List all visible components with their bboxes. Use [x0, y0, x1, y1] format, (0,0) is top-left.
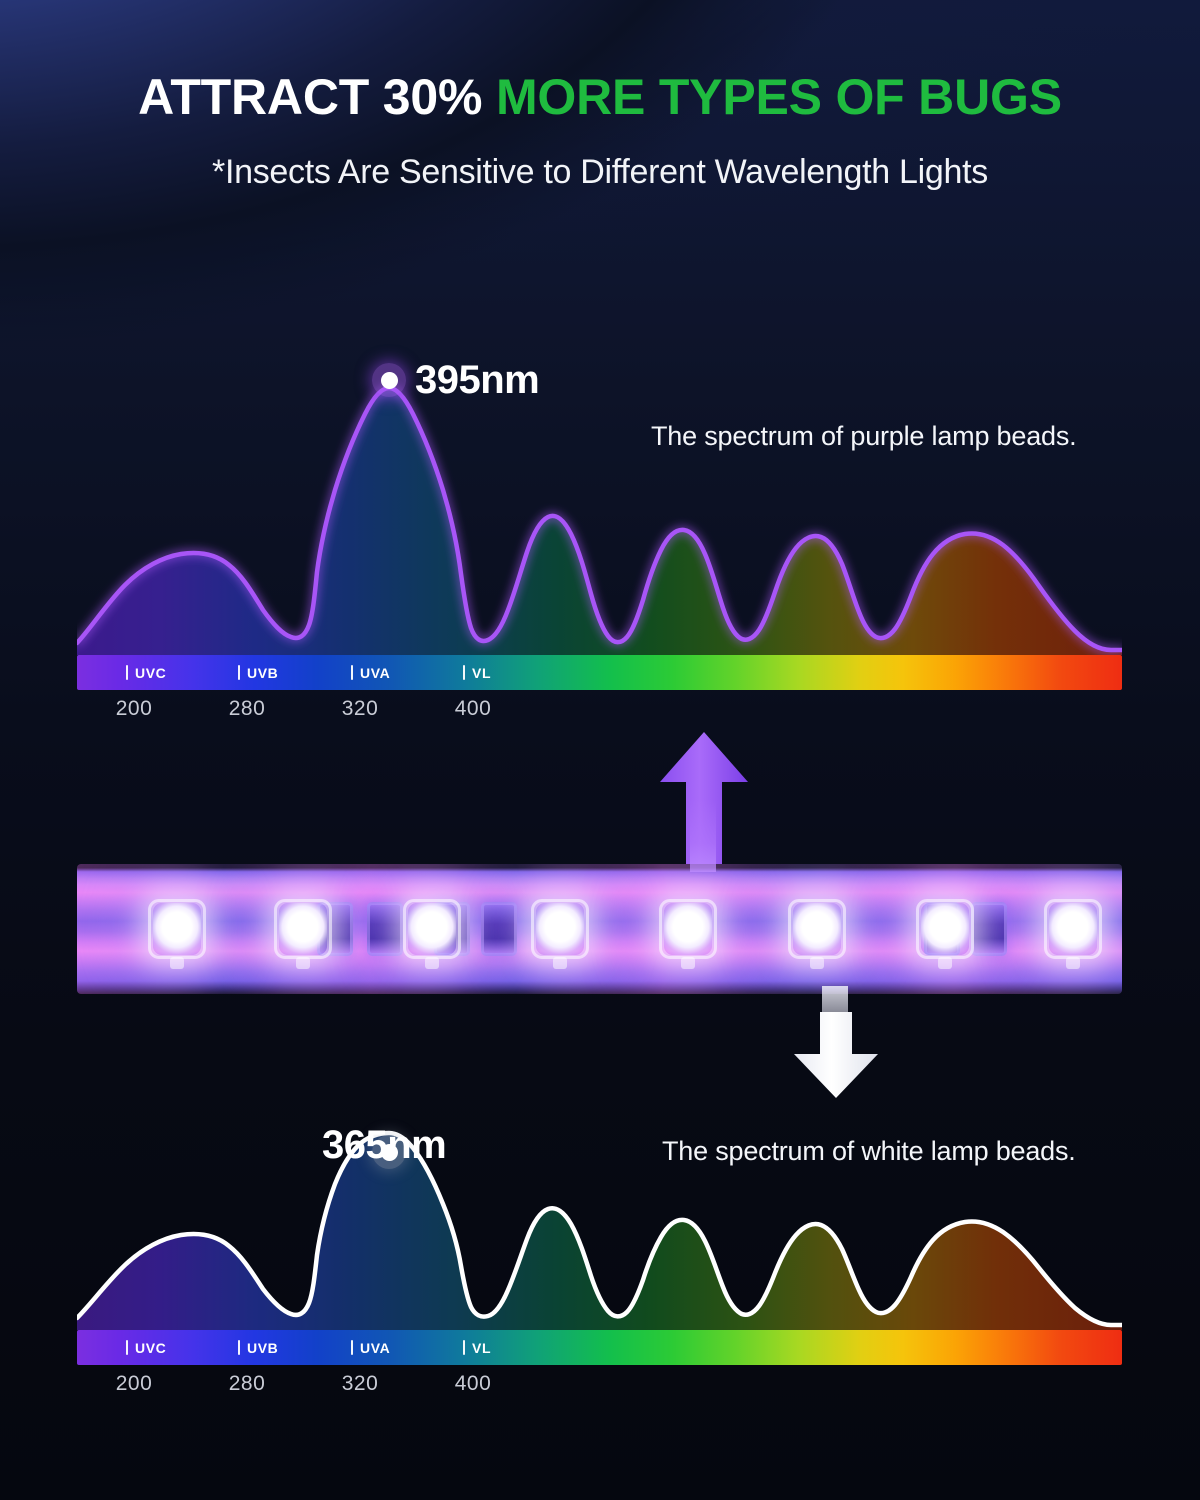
led-light-strip — [77, 864, 1122, 994]
promo-graphic: ATTRACT 30% MORE TYPES OF BUGS *Insects … — [0, 0, 1200, 1500]
chart-purple-spectrum: 395nm The spectrum of purple lamp beads.… — [77, 360, 1122, 730]
spectrum-curve-purple — [77, 360, 1122, 655]
led-chip — [481, 902, 517, 956]
axis-tick-320: 320 — [342, 697, 379, 721]
axis-tick-320: 320 — [342, 1372, 379, 1396]
axis-tick-400: 400 — [455, 697, 492, 721]
plot-area-purple: 395nm The spectrum of purple lamp beads. — [77, 360, 1122, 655]
page-title: ATTRACT 30% MORE TYPES OF BUGS — [0, 72, 1200, 122]
axis-ticks-purple: 200 280 320 400 — [77, 690, 1122, 730]
band-tick-icon — [126, 1340, 128, 1355]
band-label: VL — [472, 665, 491, 681]
band-label: UVC — [135, 1340, 166, 1356]
band-tick-icon — [238, 665, 240, 680]
caption-white-spectrum: The spectrum of white lamp beads. — [662, 1138, 1076, 1165]
page-subtitle: *Insects Are Sensitive to Different Wave… — [0, 155, 1200, 189]
caption-purple-spectrum: The spectrum of purple lamp beads. — [651, 423, 1076, 450]
led-bead — [793, 903, 841, 955]
band-tick-icon — [463, 665, 465, 680]
led-bead — [408, 903, 456, 955]
axis-tick-200: 200 — [116, 697, 153, 721]
band-label: UVA — [360, 665, 390, 681]
axis-tick-200: 200 — [116, 1372, 153, 1396]
axis-tick-280: 280 — [229, 697, 266, 721]
led-bead — [921, 903, 969, 955]
band-label: UVC — [135, 665, 166, 681]
led-beam-up — [690, 800, 716, 872]
peak-marker-395 — [372, 363, 406, 397]
band-label: UVB — [247, 1340, 278, 1356]
band-uva-bottom: UVA — [351, 1330, 390, 1365]
headline-green: MORE TYPES OF BUGS — [496, 69, 1062, 125]
led-bead — [153, 903, 201, 955]
headline-white: ATTRACT 30% — [138, 69, 496, 125]
band-uvb-bottom: UVB — [238, 1330, 278, 1365]
down-arrow-icon — [790, 1012, 882, 1098]
led-bead — [536, 903, 584, 955]
band-label: UVA — [360, 1340, 390, 1356]
down-arrow — [790, 1012, 882, 1098]
band-uvc-top: UVC — [126, 655, 166, 690]
spectrum-bar-purple: UVC UVB UVA VL — [77, 655, 1122, 690]
band-vl-top: VL — [463, 655, 491, 690]
band-uvb-top: UVB — [238, 655, 278, 690]
band-label: UVB — [247, 665, 278, 681]
band-uva-top: UVA — [351, 655, 390, 690]
band-tick-icon — [238, 1340, 240, 1355]
band-label: VL — [472, 1340, 491, 1356]
axis-tick-280: 280 — [229, 1372, 266, 1396]
led-bead — [1049, 903, 1097, 955]
band-uvc-bottom: UVC — [126, 1330, 166, 1365]
led-chip — [971, 902, 1007, 956]
band-tick-icon — [463, 1340, 465, 1355]
band-tick-icon — [126, 665, 128, 680]
peak-label-365: 365nm — [322, 1125, 446, 1165]
chart-white-spectrum: 365nm The spectrum of white lamp beads. … — [77, 1130, 1122, 1405]
led-chip — [367, 902, 403, 956]
axis-ticks-white: 200 280 320 400 — [77, 1365, 1122, 1405]
band-vl-bottom: VL — [463, 1330, 491, 1365]
led-bead — [279, 903, 327, 955]
plot-area-white: 365nm The spectrum of white lamp beads. — [77, 1130, 1122, 1330]
axis-tick-400: 400 — [455, 1372, 492, 1396]
spectrum-bar-white: UVC UVB UVA VL — [77, 1330, 1122, 1365]
band-tick-icon — [351, 665, 353, 680]
peak-label-395: 395nm — [415, 360, 539, 400]
led-bead — [664, 903, 712, 955]
band-tick-icon — [351, 1340, 353, 1355]
